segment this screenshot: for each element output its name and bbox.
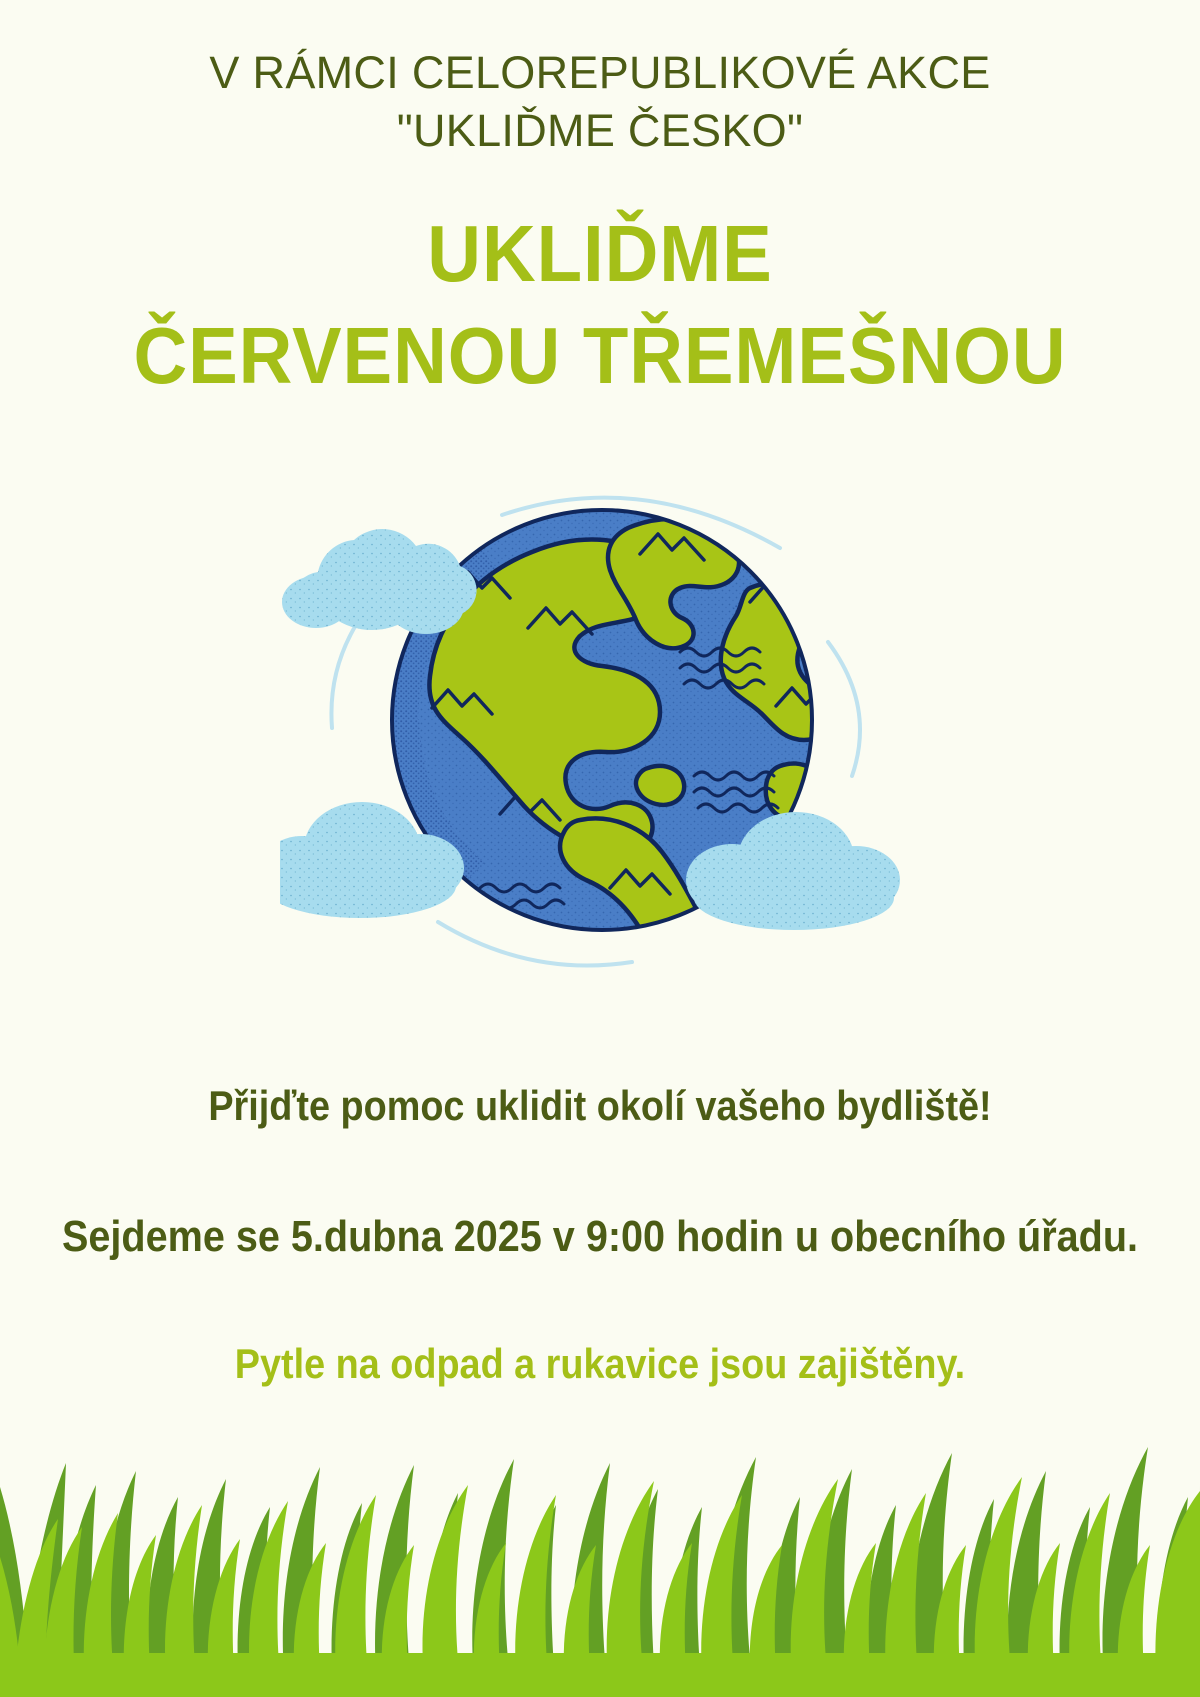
- grass-back-layer: [0, 1447, 1200, 1697]
- cloud-top-left: [282, 529, 477, 634]
- earth-globe-svg: [280, 470, 920, 990]
- grass-border: [0, 1367, 1200, 1697]
- header-block: V RÁMCI CELOREPUBLIKOVÉ AKCE "UKLIĎME ČE…: [0, 44, 1200, 159]
- body-line-supplies: Pytle na odpad a rukavice jsou zajištěny…: [60, 1340, 1140, 1388]
- grass-front-layer: [0, 1477, 1200, 1697]
- page-title: UKLIĎME ČERVENOU TŘEMEŠNOU: [0, 212, 1200, 398]
- header-line-2: "UKLIĎME ČESKO": [0, 102, 1200, 160]
- poster-canvas: V RÁMCI CELOREPUBLIKOVÉ AKCE "UKLIĎME ČE…: [0, 0, 1200, 1697]
- header-line-1: V RÁMCI CELOREPUBLIKOVÉ AKCE: [0, 44, 1200, 102]
- body-line-meeting: Sejdeme se 5.dubna 2025 v 9:00 hodin u o…: [60, 1212, 1140, 1262]
- grass-svg: [0, 1367, 1200, 1697]
- body-line-invite: Přijďte pomoc uklidit okolí vašeho bydli…: [60, 1082, 1140, 1130]
- grass-base: [0, 1653, 1200, 1697]
- island-small: [636, 766, 684, 805]
- title-line-1: UKLIĎME: [42, 212, 1158, 296]
- earth-illustration: [280, 470, 920, 990]
- title-line-2: ČERVENOU TŘEMEŠNOU: [42, 314, 1158, 398]
